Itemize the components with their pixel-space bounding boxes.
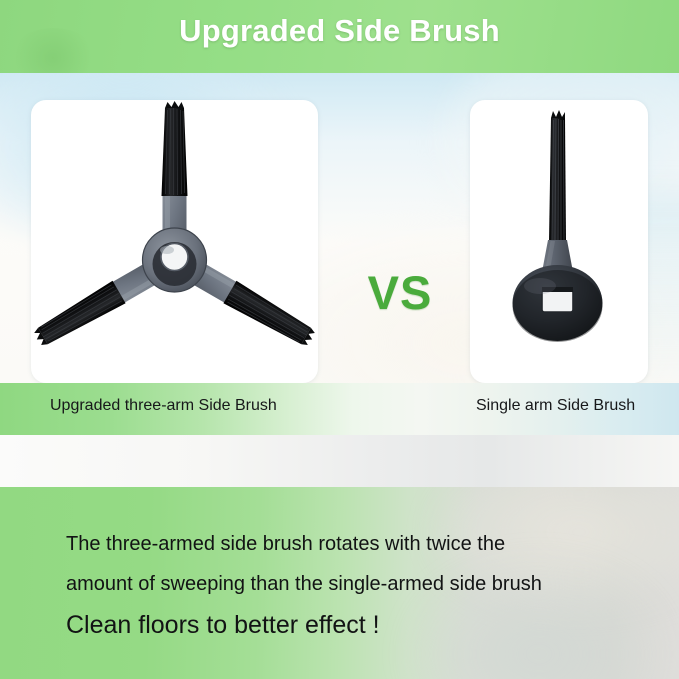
description-band: The three-armed side brush rotates with … [0, 487, 679, 679]
description-line-3: Clean floors to better effect ! [66, 611, 380, 640]
section-divider [0, 435, 679, 487]
caption-band: Upgraded three-arm Side Brush Single arm… [0, 383, 679, 435]
vs-label: VS [340, 265, 460, 320]
single-arm-side-brush-icon [470, 100, 648, 383]
header-banner: Upgraded Side Brush [0, 0, 679, 73]
description-line-1: The three-armed side brush rotates with … [66, 533, 505, 556]
right-product-caption: Single arm Side Brush [476, 397, 635, 415]
description-line-2: amount of sweeping than the single-armed… [66, 573, 542, 596]
left-product-card [31, 100, 318, 383]
three-arm-side-brush-icon [31, 100, 318, 383]
comparison-area: VS [0, 73, 679, 383]
side-brush-infographic: Upgraded Side Brush [0, 0, 679, 679]
right-product-card [470, 100, 648, 383]
page-title: Upgraded Side Brush [0, 13, 679, 49]
left-product-caption: Upgraded three-arm Side Brush [50, 397, 277, 415]
